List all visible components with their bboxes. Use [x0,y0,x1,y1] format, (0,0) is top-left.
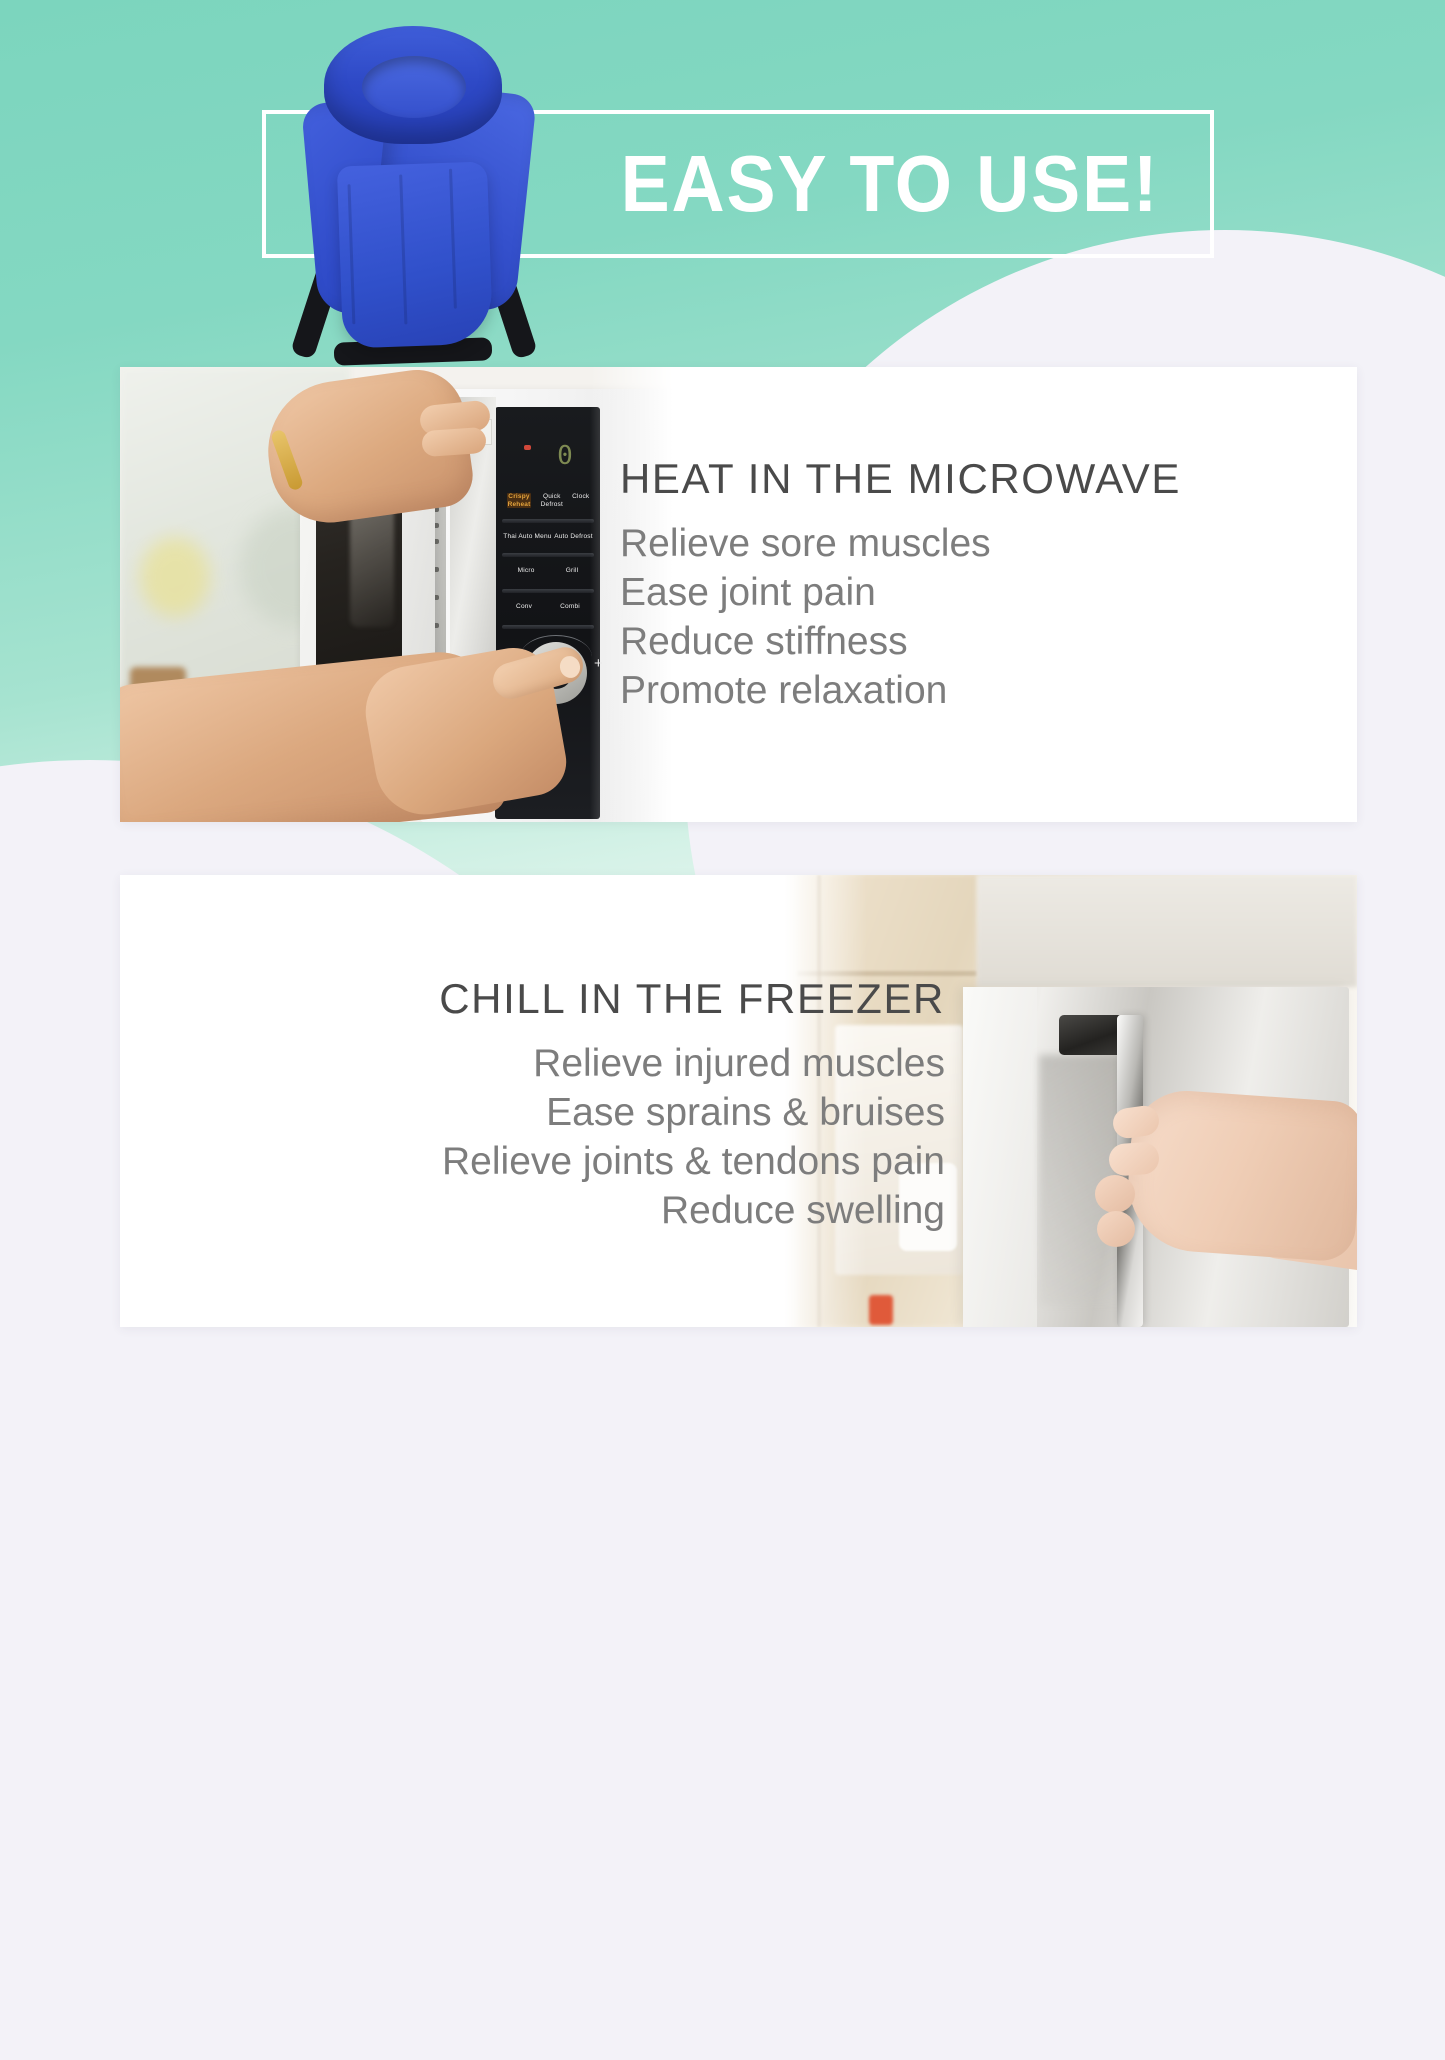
product-seam [347,184,355,324]
panel-button-row-4: Conv Combi [502,603,594,611]
panel-divider [502,589,594,593]
button-micro[interactable]: Micro [518,567,535,575]
kitchen-blur-yellow [140,537,210,617]
page-title: EASY TO USE! [586,131,1193,237]
product-wrap-image [282,14,542,359]
benefit-item: Ease sprains & bruises [439,1088,945,1137]
finger [1108,1141,1160,1176]
panel-indicator-led [524,445,531,450]
fridge-top-unit [977,875,1357,987]
microwave-display: 0 [545,439,585,473]
panel-divider [502,625,594,629]
fridge-red-item [869,1295,893,1325]
benefit-item: Relieve joints & tendons pain [439,1137,945,1186]
display-value: 0 [557,441,573,471]
microwave-photo: 0 CrispyReheat QuickDefrost Clock Thai A… [120,367,680,822]
finger [421,427,487,457]
chill-text-block: CHILL IN THE FREEZER Relieve injured mus… [439,975,945,1236]
product-collar-opening [362,56,466,118]
button-grill[interactable]: Grill [566,567,579,575]
heat-benefit-list: Relieve sore muscles Ease joint pain Red… [620,519,1181,716]
chill-section-title: CHILL IN THE FREEZER [439,975,945,1023]
benefit-item: Promote relaxation [620,666,1181,715]
button-thai-auto-menu[interactable]: Thai Auto Menu [503,533,551,541]
header-banner: EASY TO USE! [0,0,1445,360]
product-seam [399,174,407,324]
panel-divider [502,553,594,557]
benefit-item: Reduce swelling [439,1186,945,1235]
benefit-item: Ease joint pain [620,568,1181,617]
product-seam [449,169,457,309]
button-conv[interactable]: Conv [516,603,532,611]
benefit-item: Relieve sore muscles [620,519,1181,568]
panel-divider [502,519,594,523]
benefit-item: Relieve injured muscles [439,1039,945,1088]
product-collar [324,26,502,144]
benefit-item: Reduce stiffness [620,617,1181,666]
panel-button-row-2: Thai Auto Menu Auto Defrost [502,533,594,541]
button-crispy-reheat[interactable]: CrispyReheat [507,493,532,508]
handle-bracket [1059,1015,1123,1055]
panel-button-row-1: CrispyReheat QuickDefrost Clock [502,493,594,508]
button-combi[interactable]: Combi [560,603,580,611]
button-clock[interactable]: Clock [572,493,589,508]
knuckle [1095,1175,1135,1213]
panel-button-row-3: Micro Grill [502,567,594,575]
product-front-flap [337,161,493,348]
chill-benefit-list: Relieve injured muscles Ease sprains & b… [439,1039,945,1236]
hand-gripping-handle [1124,1087,1357,1263]
knuckle [1097,1211,1135,1247]
button-auto-defrost[interactable]: Auto Defrost [554,533,593,541]
heat-text-block: HEAT IN THE MICROWAVE Relieve sore muscl… [620,455,1181,716]
button-quick-defrost[interactable]: QuickDefrost [541,493,563,508]
heat-section-title: HEAT IN THE MICROWAVE [620,455,1181,503]
freezer-door-edge [963,987,1037,1327]
